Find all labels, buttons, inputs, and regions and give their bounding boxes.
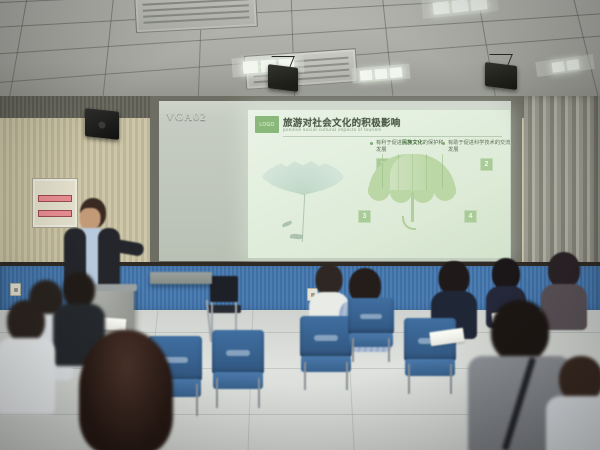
bullet-2-lead: 有助于促进科学技术: [448, 140, 495, 146]
lecture-hall-photo: VGA02 LOGO 旅游对社会文化的积极影响 positive social-…: [0, 0, 600, 450]
slide-bullet-1: 有利于促进民族文化的保护和发展: [370, 140, 444, 154]
projected-slide: LOGO 旅游对社会文化的积极影响 positive social-cultur…: [248, 110, 510, 258]
ceiling-speaker: [485, 52, 517, 94]
slide-subtitle: positive social-cultural impacts of tour…: [283, 127, 382, 132]
torso: [546, 396, 600, 450]
bullet-dot-icon: [442, 142, 445, 145]
torso: [0, 338, 55, 414]
chair[interactable]: [300, 316, 352, 390]
lotus-leaf-illustration: [260, 160, 346, 246]
chair[interactable]: [212, 330, 264, 408]
fish-icon: [290, 233, 304, 240]
slide-badge-3: 3: [358, 210, 371, 223]
slide-badge-2: 2: [480, 158, 493, 171]
attendee-right-edge-light: [546, 356, 600, 450]
ceiling-speaker: [268, 54, 298, 94]
head: [79, 330, 173, 450]
slide-badge-4: 4: [464, 210, 477, 223]
head: [439, 261, 470, 295]
bullet-1-lead: 有利于促进: [376, 140, 402, 146]
head: [491, 300, 549, 362]
attendee-front-left-white-shirt: [0, 300, 56, 410]
head: [63, 272, 95, 308]
slide-title-bar: LOGO 旅游对社会文化的积极影响 positive social-cultur…: [255, 115, 504, 135]
slide-title-rule: [283, 136, 502, 137]
bullet-1-emphasis: 民族文化: [402, 140, 423, 146]
umbrella-illustration: [368, 154, 456, 232]
window-blinds[interactable]: [524, 96, 600, 274]
chair[interactable]: [348, 298, 394, 362]
slide-bullet-2: 有助于促进科学技术的交流和发展: [442, 140, 510, 154]
attendee-front-center-long-hair: [78, 330, 174, 450]
head: [7, 300, 45, 342]
slide-logo: LOGO: [255, 116, 279, 133]
side-table: [150, 272, 212, 284]
projector-input-label: VGA02: [166, 111, 207, 123]
fish-icon: [282, 221, 293, 228]
head: [548, 252, 580, 288]
presenter-face: [80, 208, 101, 230]
bullet-dot-icon: [370, 142, 373, 145]
wall-speaker: [85, 108, 119, 140]
